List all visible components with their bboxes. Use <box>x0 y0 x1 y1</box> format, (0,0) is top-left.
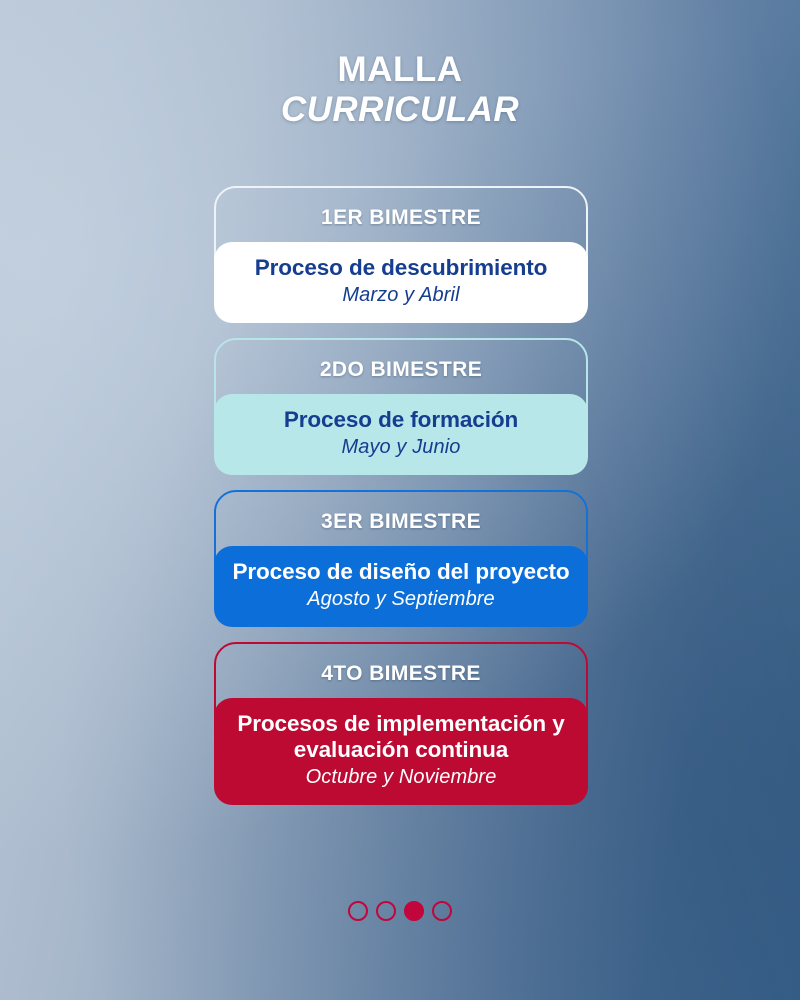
pagination-dot-4[interactable] <box>432 901 452 921</box>
bimestre-card-1-title: Proceso de descubrimiento <box>230 255 572 281</box>
bimestre-card-3-title: Proceso de diseño del proyecto <box>230 559 572 585</box>
pagination-dot-3[interactable] <box>404 901 424 921</box>
bimestre-card-2-header: 2DO BIMESTRE <box>216 350 586 394</box>
bimestre-card-4-subtitle: Octubre y Noviembre <box>230 766 572 789</box>
bimestre-card-list: 1ER BIMESTRE Proceso de descubrimiento M… <box>214 186 588 820</box>
bimestre-card-1-subtitle: Marzo y Abril <box>230 284 572 307</box>
slide-content: MALLA CURRICULAR 1ER BIMESTRE Proceso de… <box>0 0 800 1000</box>
bimestre-card-2-title: Proceso de formación <box>230 407 572 433</box>
bimestre-card-4[interactable]: 4TO BIMESTRE Procesos de implementación … <box>214 642 588 805</box>
bimestre-card-3[interactable]: 3ER BIMESTRE Proceso de diseño del proye… <box>214 490 588 627</box>
bimestre-card-4-header: 4TO BIMESTRE <box>216 654 586 698</box>
bimestre-card-1[interactable]: 1ER BIMESTRE Proceso de descubrimiento M… <box>214 186 588 323</box>
bimestre-card-4-body: Procesos de implementación y evaluación … <box>214 698 588 805</box>
bimestre-card-3-subtitle: Agosto y Septiembre <box>230 588 572 611</box>
pagination-dots <box>0 901 800 921</box>
bimestre-card-2[interactable]: 2DO BIMESTRE Proceso de formación Mayo y… <box>214 338 588 475</box>
bimestre-card-3-header: 3ER BIMESTRE <box>216 502 586 546</box>
slide-background: MALLA CURRICULAR 1ER BIMESTRE Proceso de… <box>0 0 800 1000</box>
bimestre-card-1-body: Proceso de descubrimiento Marzo y Abril <box>214 242 588 323</box>
page-title-line-1: MALLA <box>0 52 800 87</box>
pagination-dot-1[interactable] <box>348 901 368 921</box>
bimestre-card-4-title: Procesos de implementación y evaluación … <box>230 711 572 763</box>
bimestre-card-1-header: 1ER BIMESTRE <box>216 198 586 242</box>
pagination-dot-2[interactable] <box>376 901 396 921</box>
bimestre-card-2-subtitle: Mayo y Junio <box>230 436 572 459</box>
bimestre-card-2-body: Proceso de formación Mayo y Junio <box>214 394 588 475</box>
page-title: MALLA CURRICULAR <box>0 52 800 127</box>
bimestre-card-3-body: Proceso de diseño del proyecto Agosto y … <box>214 546 588 627</box>
page-title-line-2: CURRICULAR <box>0 92 800 127</box>
